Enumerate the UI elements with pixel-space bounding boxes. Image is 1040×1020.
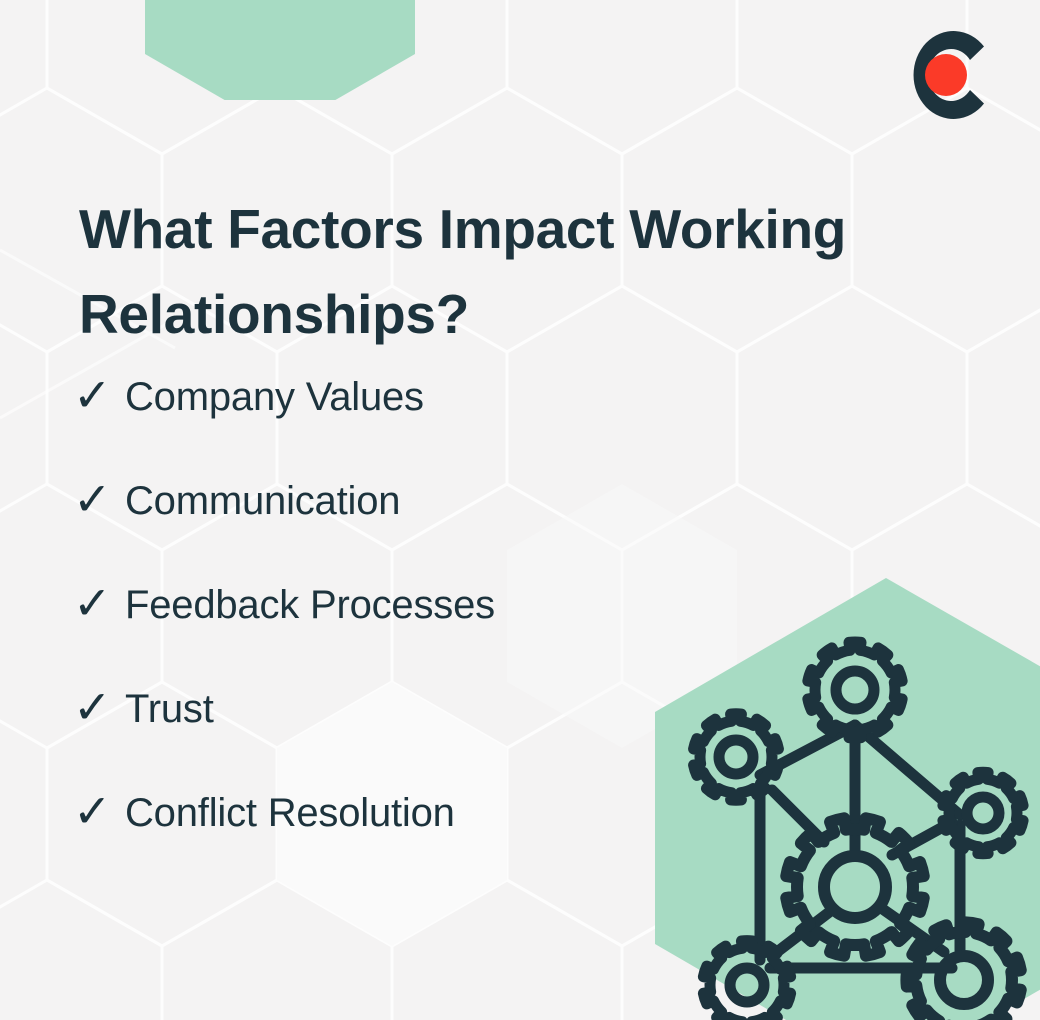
gear-hub-icon [836, 671, 874, 709]
check-icon: ✓ [73, 476, 125, 522]
page-title: What Factors Impact Working Relationship… [79, 187, 979, 358]
list-item: ✓ Company Values [73, 345, 713, 449]
list-item-label: Company Values [125, 377, 424, 417]
gear-hub-icon [967, 797, 999, 829]
check-icon: ✓ [73, 684, 125, 730]
list-item-label: Conflict Resolution [125, 793, 455, 833]
green-hexagon-top-decor [140, 0, 420, 100]
gear-icon [694, 714, 779, 800]
list-item: ✓ Conflict Resolution [73, 761, 713, 865]
list-item-label: Feedback Processes [125, 585, 495, 625]
brand-logo[interactable] [898, 28, 990, 122]
gear-hub-icon [824, 856, 886, 918]
gear-hub-icon [730, 968, 764, 1002]
list-item: ✓ Feedback Processes [73, 553, 713, 657]
check-icon: ✓ [73, 372, 125, 418]
poster-canvas: What Factors Impact Working Relationship… [0, 0, 1040, 1020]
check-icon: ✓ [73, 580, 125, 626]
logo-accent-dot [925, 54, 967, 96]
gear-icon [703, 941, 790, 1020]
gear-hub-icon [940, 956, 988, 1004]
check-icon: ✓ [73, 788, 125, 834]
list-item: ✓ Communication [73, 449, 713, 553]
gear-hub-icon [719, 740, 753, 774]
list-item: ✓ Trust [73, 657, 713, 761]
list-item-label: Communication [125, 481, 400, 521]
connected-gears-icon [652, 560, 1040, 1020]
list-item-label: Trust [125, 689, 214, 729]
page-title-line-1: What Factors Impact Working [79, 187, 979, 272]
factors-checklist: ✓ Company Values ✓ Communication ✓ Feedb… [73, 345, 713, 865]
